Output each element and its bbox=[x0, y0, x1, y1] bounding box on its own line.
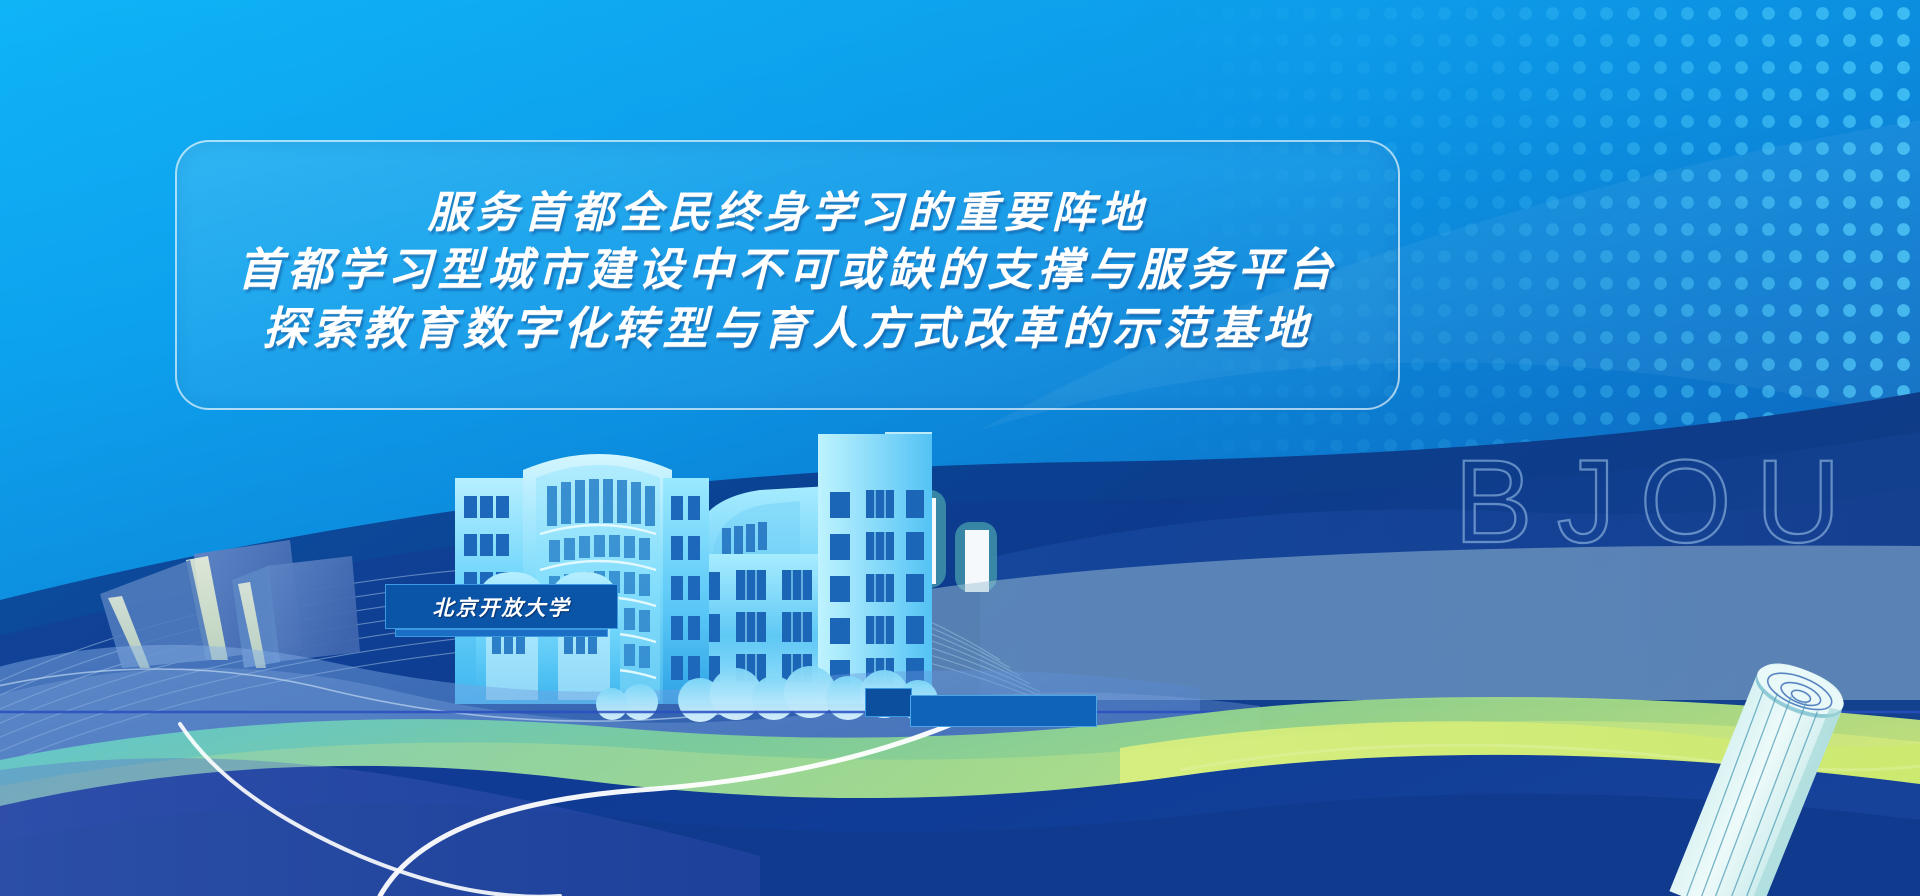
background-illustration bbox=[0, 0, 1920, 896]
headline-line-3: 探索教育数字化转型与育人方式改革的示范基地 bbox=[262, 302, 1312, 357]
banner-stage: BJOU 服务首都全民终身学习的重要阵地 首都学习型城市建设中不可或缺的支撑与服… bbox=[0, 0, 1920, 896]
headline-line-2: 首都学习型城市建设中不可或缺的支撑与服务平台 bbox=[237, 243, 1337, 298]
campus-sign-base bbox=[395, 629, 608, 637]
campus-sign-text: 北京开放大学 bbox=[433, 592, 571, 622]
headline-line-1: 服务首都全民终身学习的重要阵地 bbox=[428, 187, 1148, 239]
headline-card: 服务首都全民终身学习的重要阵地 首都学习型城市建设中不可或缺的支撑与服务平台 探… bbox=[175, 140, 1400, 410]
sign-plate-wide bbox=[910, 695, 1097, 727]
sign-plate-small bbox=[865, 688, 912, 717]
campus-sign-board: 北京开放大学 bbox=[385, 584, 618, 629]
